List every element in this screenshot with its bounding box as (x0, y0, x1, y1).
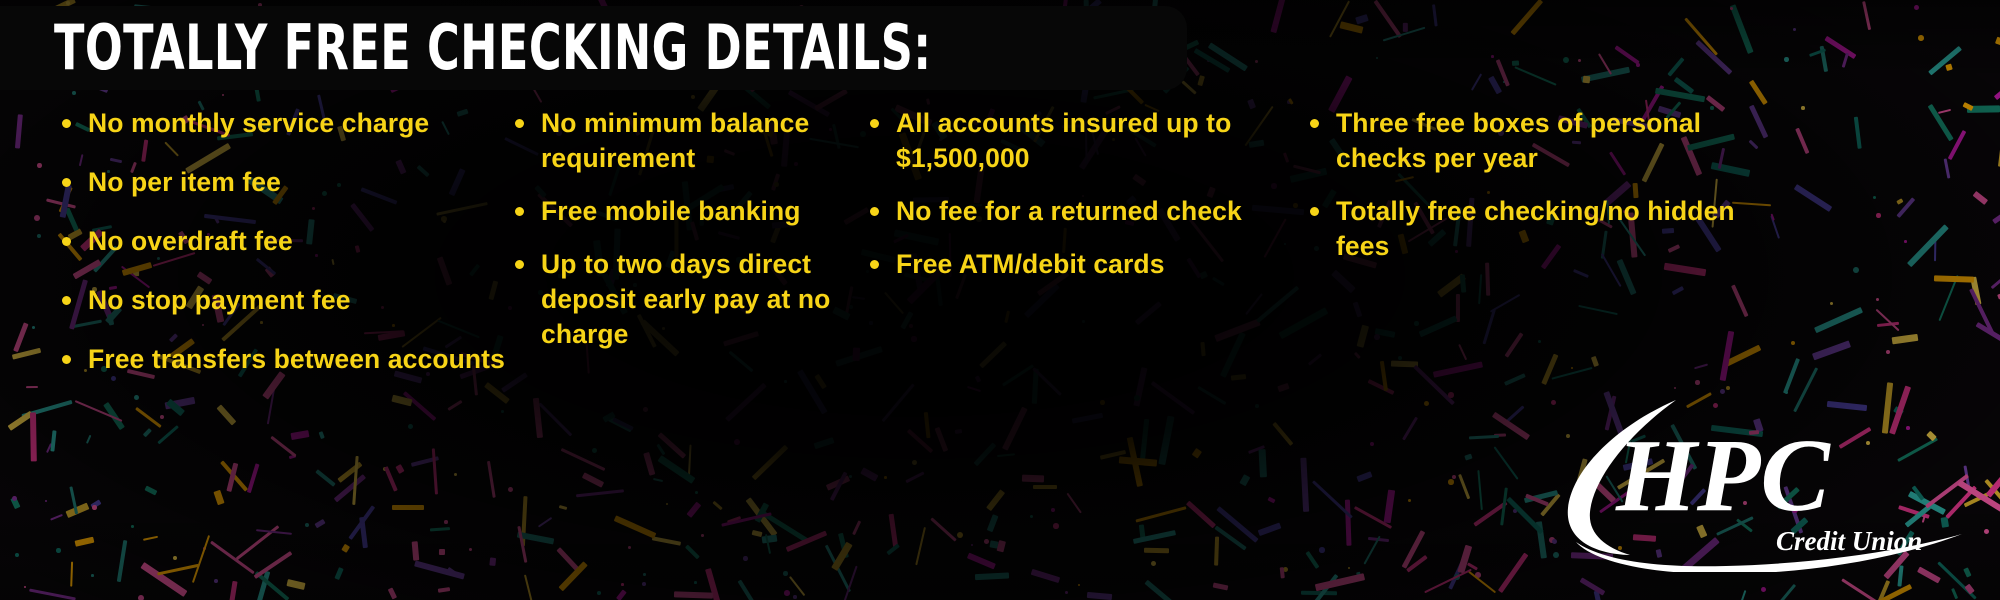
benefit-list-2: No minimum balance requirement Free mobi… (513, 106, 858, 352)
benefits-column-2: No minimum balance requirement Free mobi… (505, 106, 858, 526)
benefits-column-1: No monthly service charge No per item fe… (0, 106, 505, 526)
benefit-list-3: All accounts insured up to $1,500,000 No… (868, 106, 1268, 282)
list-item: Free mobile banking (513, 194, 858, 229)
list-item: Totally free checking/no hidden fees (1308, 194, 1778, 264)
list-item: Free ATM/debit cards (868, 247, 1268, 282)
benefit-list-4: Three free boxes of personal checks per … (1308, 106, 1778, 264)
list-item: All accounts insured up to $1,500,000 (868, 106, 1268, 176)
list-item: No monthly service charge (60, 106, 505, 141)
list-item: Up to two days direct deposit early pay … (513, 247, 858, 352)
list-item: No stop payment fee (60, 283, 505, 318)
page-title: TOTALLY FREE CHECKING DETAILS: (54, 17, 932, 79)
list-item: No fee for a returned check (868, 194, 1268, 229)
benefits-column-3: All accounts insured up to $1,500,000 No… (858, 106, 1268, 526)
hpc-credit-union-logo: HPC Credit Union (1558, 392, 1978, 572)
logo-tagline: Credit Union (1776, 526, 1922, 556)
list-item: No minimum balance requirement (513, 106, 858, 176)
title-band: TOTALLY FREE CHECKING DETAILS: (0, 6, 1187, 90)
list-item: No overdraft fee (60, 224, 505, 259)
promo-banner: TOTALLY FREE CHECKING DETAILS: No monthl… (0, 0, 2000, 600)
list-item: No per item fee (60, 165, 505, 200)
list-item: Three free boxes of personal checks per … (1308, 106, 1778, 176)
logo-mark: HPC (1615, 418, 1831, 533)
benefit-list-1: No monthly service charge No per item fe… (60, 106, 505, 377)
list-item: Free transfers between accounts (60, 342, 505, 377)
